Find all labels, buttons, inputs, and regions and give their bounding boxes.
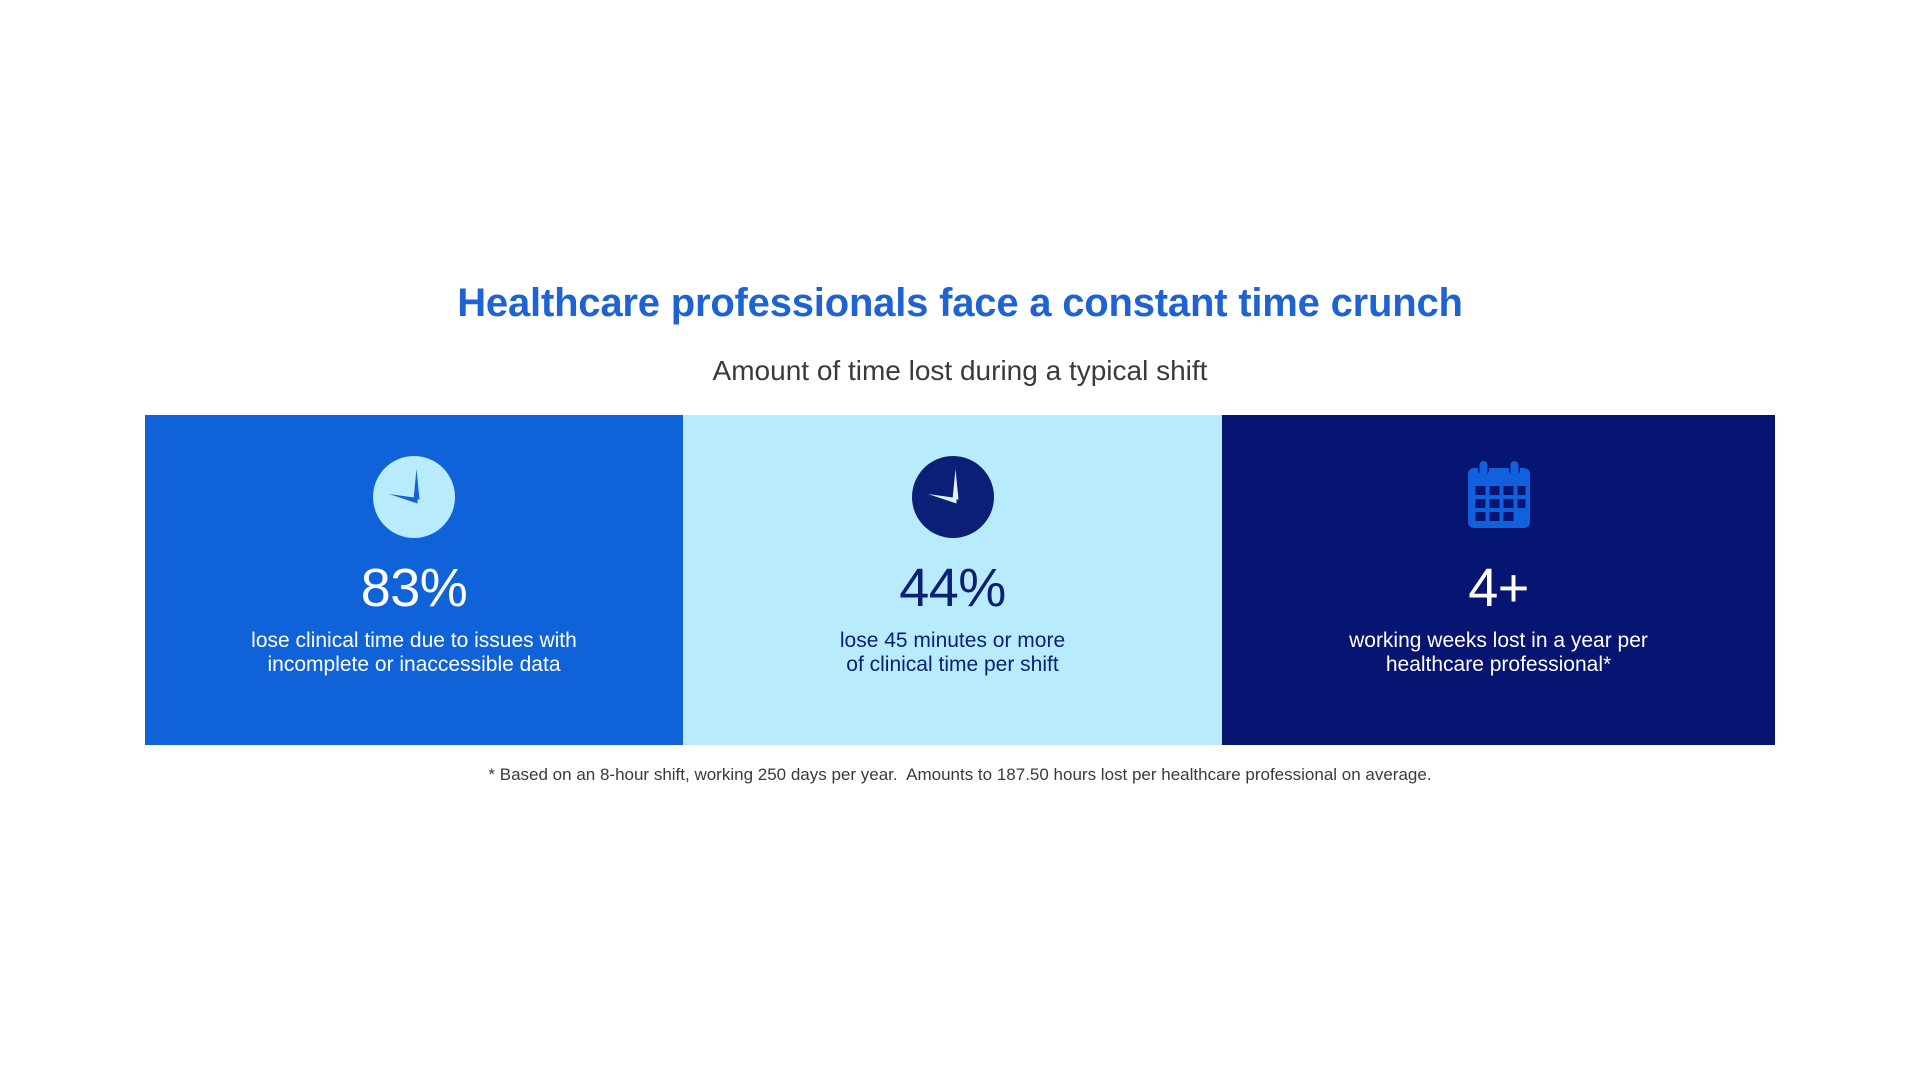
stat-caption: working weeks lost in a year per healthc…: [1349, 629, 1648, 677]
stat-panel-3: 4+ working weeks lost in a year per heal…: [1222, 415, 1775, 745]
page-title: Healthcare professionals face a constant…: [0, 281, 1920, 326]
infographic-canvas: Healthcare professionals face a constant…: [0, 0, 1920, 1080]
stat-value: 44%: [899, 561, 1006, 615]
stat-value: 4+: [1468, 561, 1529, 615]
clock-icon: [368, 451, 460, 543]
stat-panel-row: 83% lose clinical time due to issues wit…: [145, 415, 1775, 745]
calendar-icon: [1453, 451, 1545, 543]
page-subtitle: Amount of time lost during a typical shi…: [0, 355, 1920, 387]
footnote-text: * Based on an 8-hour shift, working 250 …: [0, 765, 1920, 785]
stat-caption: lose 45 minutes or more of clinical time…: [840, 629, 1065, 677]
stat-caption: lose clinical time due to issues with in…: [251, 629, 577, 677]
stat-panel-1: 83% lose clinical time due to issues wit…: [145, 415, 683, 745]
stat-panel-2: 44% lose 45 minutes or more of clinical …: [683, 415, 1222, 745]
clock-icon: [907, 451, 999, 543]
stat-value: 83%: [361, 561, 468, 615]
